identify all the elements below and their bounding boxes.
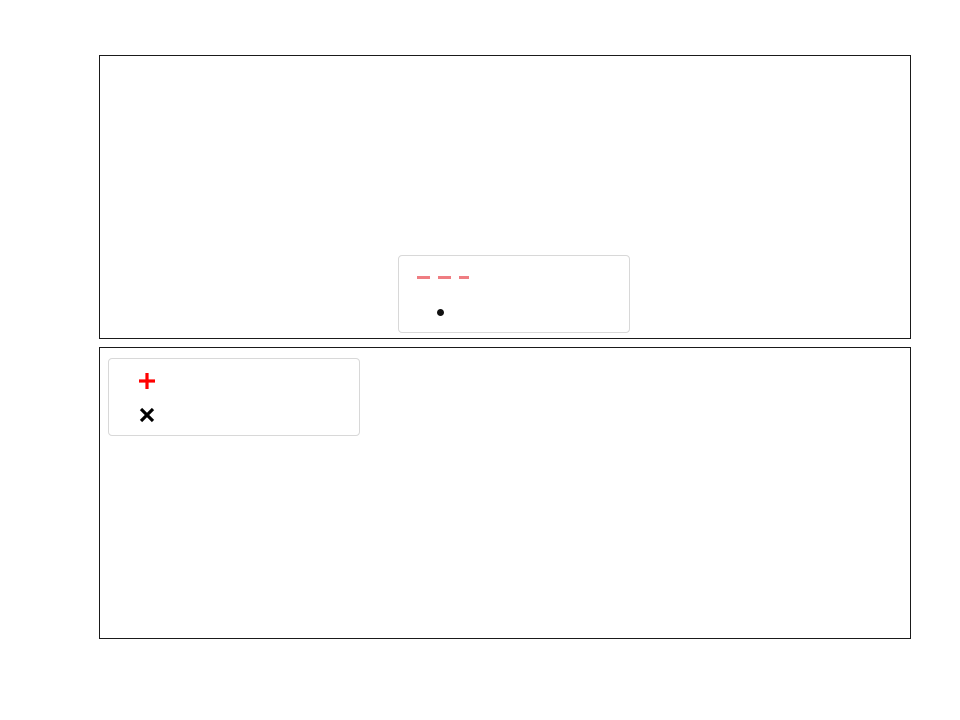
dot-marker-icon (409, 295, 465, 329)
legend-item-predicted-stars[interactable] (109, 398, 359, 432)
figure-root (0, 0, 960, 720)
top-panel-legend (398, 255, 630, 333)
legend-item-matched-stars[interactable] (109, 364, 359, 398)
plus-marker-icon (119, 364, 175, 398)
legend-item-threshold[interactable] (399, 261, 629, 295)
bottom-panel-legend (108, 358, 360, 436)
legend-item-measurements[interactable] (399, 295, 629, 329)
dashed-line-icon (409, 261, 465, 295)
cross-marker-icon (119, 398, 175, 432)
